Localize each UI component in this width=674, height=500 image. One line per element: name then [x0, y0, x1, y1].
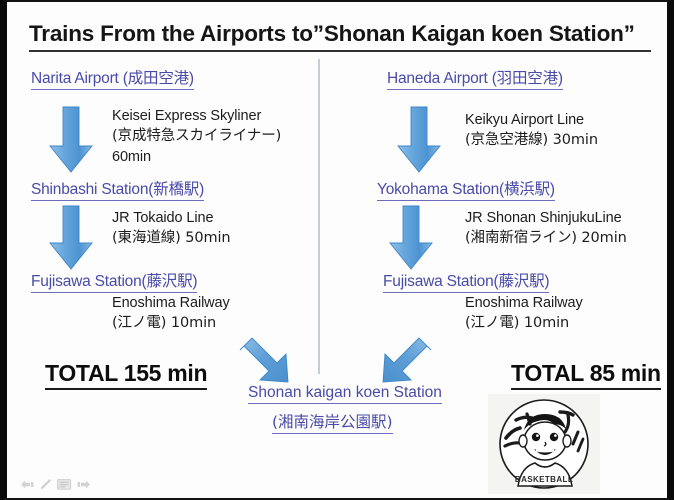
menu-icon[interactable] — [57, 478, 72, 496]
right-leg-2-line-en: JR Shonan ShinjukuLine — [465, 208, 627, 228]
column-divider — [318, 59, 320, 374]
diagonal-down-left-arrow-icon — [380, 331, 442, 392]
right-origin-haneda-airport[interactable]: Haneda Airport (羽田空港) — [387, 66, 563, 90]
left-leg-2-line-jp: (東海道線) 50min — [112, 228, 231, 248]
left-leg-1-line-en: Keisei Express Skyliner — [112, 106, 281, 126]
destination-name-en[interactable]: Shonan kaigan koen Station — [248, 384, 442, 404]
left-leg-1-description: Keisei Express Skyliner (京成特急スカイライナー) 60… — [112, 106, 281, 167]
next-arrow-icon[interactable] — [77, 478, 90, 496]
previous-arrow-icon[interactable] — [21, 478, 34, 496]
right-leg-1-line-jp: (京急空港線) 30min — [465, 130, 598, 150]
right-leg-3-description: Enoshima Railway (江ノ電) 10min — [465, 293, 583, 334]
left-station-fujisawa[interactable]: Fujisawa Station(藤沢駅) — [31, 269, 197, 293]
pencil-icon[interactable] — [39, 478, 52, 496]
right-leg-1-line-en: Keikyu Airport Line — [465, 110, 598, 130]
slide-canvas: Trains From the Airports to”Shonan Kaiga… — [7, 2, 667, 498]
left-leg-2-line-en: JR Tokaido Line — [112, 208, 231, 228]
right-total-time: TOTAL 85 min — [511, 360, 661, 390]
down-arrow-icon — [394, 106, 444, 179]
logo-stamp: BASKETBALL — [488, 394, 600, 494]
down-arrow-icon — [386, 205, 436, 276]
diagonal-down-right-arrow-icon — [235, 331, 301, 392]
left-station-shinbashi[interactable]: Shinbashi Station(新橋駅) — [31, 177, 204, 201]
right-station-fujisawa[interactable]: Fujisawa Station(藤沢駅) — [383, 269, 549, 293]
left-leg-1-duration: 60min — [112, 147, 281, 167]
left-leg-2-description: JR Tokaido Line (東海道線) 50min — [112, 208, 231, 249]
right-station-yokohama[interactable]: Yokohama Station(横浜駅) — [377, 177, 555, 201]
left-total-time: TOTAL 155 min — [45, 360, 207, 390]
right-leg-2-description: JR Shonan ShinjukuLine (湘南新宿ライン) 20min — [465, 208, 627, 249]
down-arrow-icon — [46, 106, 96, 179]
slide-frame: Trains From the Airports to”Shonan Kaiga… — [0, 0, 674, 500]
right-leg-1-description: Keikyu Airport Line (京急空港線) 30min — [465, 110, 598, 151]
right-leg-2-line-jp: (湘南新宿ライン) 20min — [465, 228, 627, 248]
left-leg-3-line-en: Enoshima Railway — [112, 293, 230, 313]
left-origin-narita-airport[interactable]: Narita Airport (成田空港) — [31, 66, 194, 90]
left-leg-3-line-jp: (江ノ電) 10min — [112, 313, 230, 333]
down-arrow-icon — [46, 205, 96, 276]
right-leg-3-line-jp: (江ノ電) 10min — [465, 313, 583, 333]
left-leg-3-description: Enoshima Railway (江ノ電) 10min — [112, 293, 230, 334]
left-leg-1-line-jp: (京成特急スカイライナー) — [112, 126, 281, 146]
logo-label: BASKETBALL — [515, 475, 573, 484]
presentation-toolbar[interactable] — [21, 478, 90, 496]
right-leg-3-line-en: Enoshima Railway — [465, 293, 583, 313]
page-title: Trains From the Airports to”Shonan Kaiga… — [29, 21, 651, 52]
destination-name-jp[interactable]: (湘南海岸公園駅) — [272, 410, 393, 434]
